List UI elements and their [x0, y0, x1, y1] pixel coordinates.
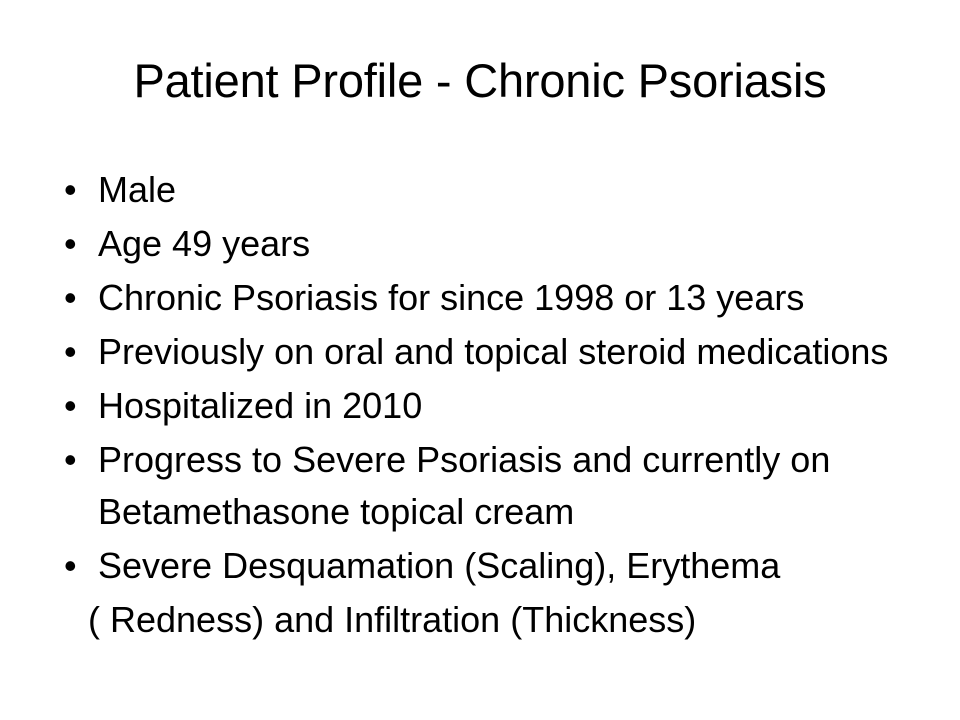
- bullet-marker-icon: •: [64, 218, 84, 270]
- list-item-text: Male: [98, 164, 940, 216]
- list-item[interactable]: • Chronic Psoriasis for since 1998 or 13…: [60, 272, 940, 324]
- list-item[interactable]: • Progress to Severe Psoriasis and curre…: [60, 434, 940, 538]
- list-item[interactable]: • Previously on oral and topical steroid…: [60, 326, 940, 378]
- slide-body-bullet-list: • Male • Age 49 years • Chronic Psoriasi…: [60, 164, 940, 646]
- list-item[interactable]: • Hospitalized in 2010: [60, 380, 940, 432]
- list-item-text: Chronic Psoriasis for since 1998 or 13 y…: [98, 272, 940, 324]
- list-item[interactable]: • Age 49 years: [60, 218, 940, 270]
- list-item-text: Severe Desquamation (Scaling), Erythema: [98, 540, 940, 592]
- list-item-text: Previously on oral and topical steroid m…: [98, 326, 940, 378]
- bullet-marker-icon: •: [64, 434, 84, 486]
- list-item[interactable]: • Male: [60, 164, 940, 216]
- list-item-continuation-text[interactable]: ( Redness) and Infiltration (Thickness): [60, 594, 940, 646]
- slide-title: Patient Profile - Chronic Psoriasis: [0, 56, 960, 107]
- bullet-marker-icon: •: [64, 326, 84, 378]
- list-item[interactable]: • Severe Desquamation (Scaling), Erythem…: [60, 540, 940, 592]
- bullet-marker-icon: •: [64, 540, 84, 592]
- bullet-marker-icon: •: [64, 380, 84, 432]
- presentation-slide: Patient Profile - Chronic Psoriasis • Ma…: [0, 0, 960, 720]
- list-item-text: Progress to Severe Psoriasis and current…: [98, 434, 940, 538]
- bullet-marker-icon: •: [64, 164, 84, 216]
- bullet-marker-icon: •: [64, 272, 84, 324]
- list-item-text: Age 49 years: [98, 218, 940, 270]
- list-item-text: Hospitalized in 2010: [98, 380, 940, 432]
